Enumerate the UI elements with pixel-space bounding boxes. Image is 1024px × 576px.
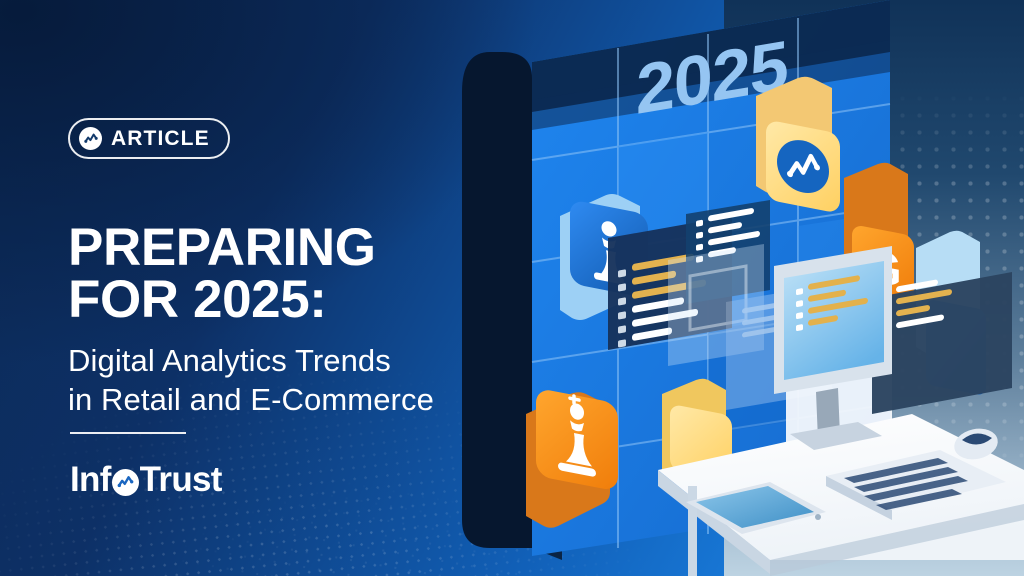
logo-text-after: Trust <box>140 462 222 497</box>
logo-text-before: Inf <box>70 462 111 497</box>
divider-rule <box>70 432 186 434</box>
infotrust-logo[interactable]: Inf Trust <box>70 462 222 497</box>
page-subtitle-line-1: Digital Analytics Trends <box>68 343 391 378</box>
article-badge-label: ARTICLE <box>111 128 210 149</box>
article-badge[interactable]: ARTICLE <box>68 118 230 159</box>
page-title: PREPARING FOR 2025: <box>68 222 498 327</box>
page-title-line-1: PREPARING <box>68 218 376 277</box>
analytics-chart-icon <box>79 127 102 150</box>
hero-content: ARTICLE PREPARING FOR 2025: Digital Anal… <box>68 0 538 576</box>
page-subtitle: Digital Analytics Trends in Retail and E… <box>68 341 548 419</box>
analytics-chart-tile <box>756 77 840 214</box>
page-title-line-2: FOR 2025: <box>68 274 498 326</box>
article-hero-banner: 2025 <box>0 0 1024 576</box>
analytics-chart-circle-icon <box>112 469 139 496</box>
page-subtitle-line-2: in Retail and E-Commerce <box>68 380 548 419</box>
